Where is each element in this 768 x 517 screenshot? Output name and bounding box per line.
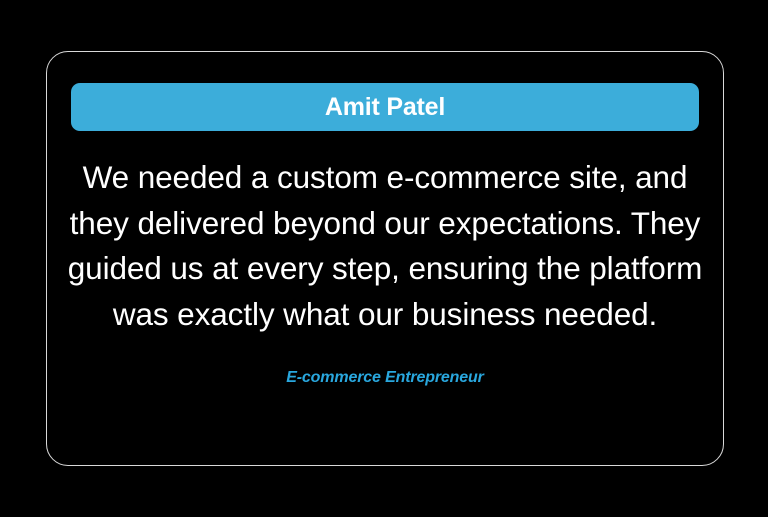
- quote-line: was exactly what our business needed.: [57, 292, 713, 338]
- testimonial-canvas: Amit Patel We needed a custom e-commerce…: [0, 0, 768, 517]
- testimonial-card: Amit Patel We needed a custom e-commerce…: [46, 51, 724, 466]
- testimonial-quote: We needed a custom e-commerce site, and …: [57, 155, 713, 337]
- quote-line: We needed a custom e-commerce site, and: [57, 155, 713, 201]
- quote-line: guided us at every step, ensuring the pl…: [57, 246, 713, 292]
- quote-line: they delivered beyond our expectations. …: [57, 201, 713, 247]
- name-banner: Amit Patel: [71, 83, 699, 131]
- reviewer-name: Amit Patel: [325, 95, 445, 120]
- reviewer-role: E-commerce Entrepreneur: [57, 368, 713, 387]
